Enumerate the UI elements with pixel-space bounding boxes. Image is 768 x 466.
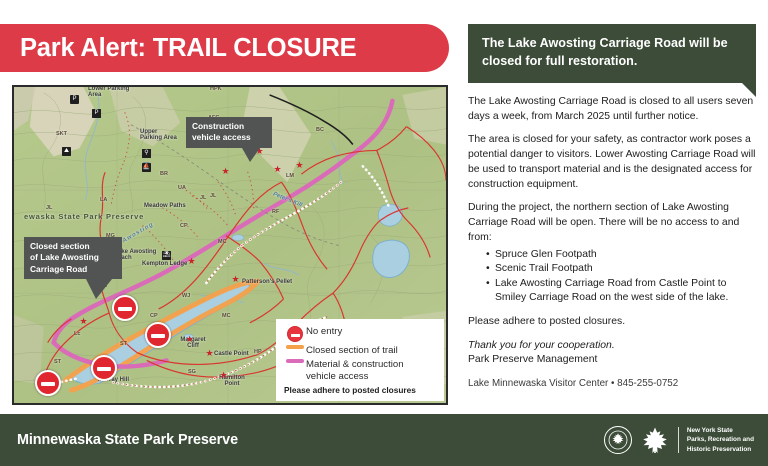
thanks-note: Thank you for your cooperation. [468,339,756,354]
map-code-mc2: MC [222,313,231,319]
list-item: Lake Awosting Carriage Road from Castle … [486,277,756,306]
info-paragraph-2: The area is closed for your safety, as c… [468,133,756,192]
no-entry-marker-3 [91,355,117,381]
map-code-cp: CP [180,223,188,229]
nys-seal-icon [604,426,632,454]
info-paragraph-3: During the project, the northern section… [468,201,756,245]
map-code-bc: BC [316,127,324,133]
map-code-mc: MC [218,239,227,245]
logo-divider [678,427,679,453]
map-legend: No entry Closed section of trail Materia… [276,319,444,401]
legend-item-closed-trail: Closed section of trail [284,345,436,356]
map-code-rf: RF [272,209,279,215]
signature-line: Park Preserve Management [468,353,756,368]
no-entry-marker-4 [35,370,61,396]
no-entry-marker-2 [145,322,171,348]
closure-bullet-list: Spruce Glen Footpath Scenic Trail Footpa… [468,248,756,306]
map-code-ua: UA [178,185,186,191]
map-code-cp2: CP [150,313,158,319]
callout-closed-section: Closed sectionof Lake AwostingCarriage R… [24,237,122,279]
map-code-jl2: JL [200,195,206,201]
parking-pin-icon: P [70,95,79,104]
parking-pin-icon-2: P [92,109,101,118]
map-code-la: LA [100,197,107,203]
map-code-wj: WJ [182,293,190,299]
callout-tail-icon-2 [86,279,112,299]
legend-item-no-entry: No entry [284,326,436,342]
map-code-st: ST [54,359,61,365]
list-item: Spruce Glen Footpath [486,248,756,263]
trail-closure-map[interactable]: ewaska State Park Preserve Lower Parking… [12,85,448,405]
map-code-skt: SKT [56,131,67,137]
map-code-hpk: HPK [210,86,222,92]
callout-tail-icon [242,148,260,162]
legend-note: Please adhere to posted closures [284,385,436,395]
restroom-pin-icon-2: ⚲ [142,149,151,158]
maple-leaf-icon [640,426,670,454]
map-code-br: BR [160,171,168,177]
map-code-hp: HP [254,349,262,355]
callout-construction-text: Constructionvehicle access [192,121,251,142]
map-code-sg: SG [188,369,196,375]
list-item: Scenic Trail Footpath [486,262,756,277]
boat-pin-icon: ⛵ [142,163,151,172]
footer-bar: Minnewaska State Park Preserve New York … [0,414,768,466]
map-code-lc2: Lc [74,331,80,337]
map-code-jl: JL [210,193,216,199]
closing-note: Please adhere to posted closures. [468,315,756,330]
map-code-st2: ST [120,341,127,347]
park-name: Minnewaska State Park Preserve [0,432,238,448]
beach-pin-icon: ⛱ [162,251,171,260]
legend-item-material-access: Material & construction vehicle access [284,359,436,382]
agency-name: New York StateParks, Recreation andHisto… [687,426,754,454]
page-title: Park Alert: TRAIL CLOSURE [0,34,356,63]
closed-trail-line-icon [284,345,306,349]
park-alert-banner: Park Alert: TRAIL CLOSURE [0,24,449,72]
material-access-line-icon [284,359,306,363]
callout-construction-vehicle-access: Constructionvehicle access [186,117,272,148]
map-code-jl3: JL [46,205,52,211]
callout-closed-text: Closed sectionof Lake AwostingCarriage R… [30,241,99,274]
info-paragraph-1: The Lake Awosting Carriage Road is close… [468,95,756,125]
no-entry-icon [284,326,306,342]
contact-info: Lake Minnewaska Visitor Center • 845-255… [468,377,756,391]
info-panel: The Lake Awosting Carriage Road will be … [468,24,756,391]
seal-leaf-icon [608,430,628,450]
map-code-lm: LM [286,173,294,179]
legend-label-no-entry: No entry [306,326,342,337]
highlight-callout-box: The Lake Awosting Carriage Road will be … [468,24,756,83]
legend-label-material-access: Material & construction vehicle access [306,359,436,382]
agency-logos: New York StateParks, Recreation andHisto… [604,426,754,454]
no-entry-marker-1 [112,295,138,321]
legend-label-closed-trail: Closed section of trail [306,345,398,356]
highlight-text: The Lake Awosting Carriage Road will be … [482,35,742,71]
view-pin-icon: ⛰ [62,147,71,156]
corner-fold-icon [742,83,756,97]
